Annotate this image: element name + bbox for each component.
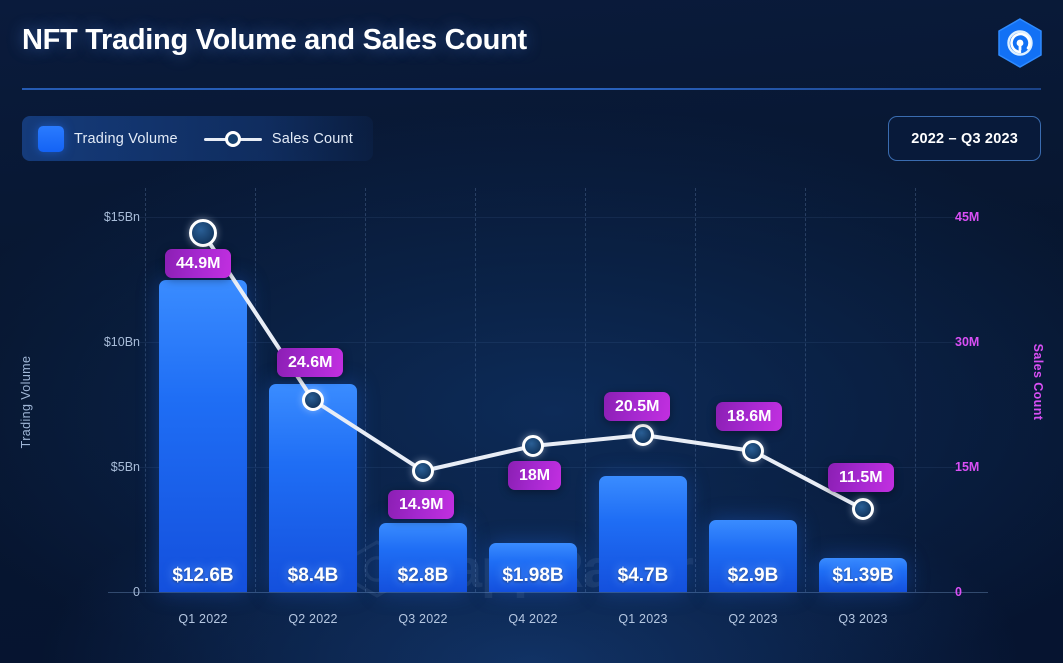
bar-value-label: $12.6B [159,565,247,587]
page-title: NFT Trading Volume and Sales Count [22,24,527,57]
axis-baseline [108,592,988,593]
legend-marker-dot [225,131,241,147]
line-marker-q4-2022[interactable] [522,435,544,457]
chart-legend: Trading Volume Sales Count [22,116,373,161]
bubble-value: 18.6M [727,408,771,426]
bubble-value: 18M [519,467,550,485]
bubble-value: 24.6M [288,354,332,372]
bar-q1-2022[interactable] [159,280,247,592]
x-axis-tick: Q1 2023 [599,612,687,626]
y-axis-right-tick: 30M [955,335,1025,349]
chart-plot-area: DappRadar $15Bn $10Bn $5Bn 0 Trading Vol… [0,180,1063,663]
bubble-value: 14.9M [399,496,443,514]
sales-count-bubble-q1-2022: 44.9M [165,249,231,278]
y-axis-left-tick: 0 [70,585,140,599]
header-divider [22,88,1041,90]
sales-count-bubble-q1-2023: 20.5M [604,392,670,421]
x-axis-tick: Q3 2022 [379,612,467,626]
gridline-v [695,188,696,592]
gridline-v [365,188,366,592]
gridline-v [585,188,586,592]
dappradar-hexagon-logo-icon [996,17,1044,69]
gridline-h [140,217,956,218]
date-range-badge[interactable]: 2022 – Q3 2023 [888,116,1041,161]
y-axis-right-tick: 0 [955,585,1025,599]
bar-value-label: $8.4B [269,565,357,587]
legend-label: Trading Volume [74,131,178,147]
y-axis-left-tick: $15Bn [70,210,140,224]
gridline-v [255,188,256,592]
sales-count-bubble-q3-2022: 14.9M [388,490,454,519]
legend-item-sales-count[interactable]: Sales Count [204,131,353,147]
y-axis-left-tick: $5Bn [70,460,140,474]
line-marker-q1-2023[interactable] [632,424,654,446]
bubble-value: 20.5M [615,398,659,416]
bar-value-label: $1.39B [817,565,909,587]
sales-count-bubble-q2-2023: 18.6M [716,402,782,431]
y-axis-right-tick: 45M [955,210,1025,224]
gridline-v [805,188,806,592]
bar-value-label: $2.9B [709,565,797,587]
line-marker-q2-2022[interactable] [302,389,324,411]
line-dot-icon [204,131,262,147]
sales-count-bubble-q2-2022: 24.6M [277,348,343,377]
legend-item-trading-volume[interactable]: Trading Volume [38,126,178,152]
y-axis-left-tick: $10Bn [70,335,140,349]
sales-count-bubble-q3-2023: 11.5M [828,463,894,492]
chart-card: NFT Trading Volume and Sales Count Tradi… [0,0,1063,663]
gridline-v [475,188,476,592]
sales-count-bubble-q4-2022: 18M [508,461,561,490]
line-marker-q2-2023[interactable] [742,440,764,462]
x-axis-tick: Q1 2022 [159,612,247,626]
card-header: NFT Trading Volume and Sales Count [0,0,1063,92]
bar-value-label: $2.8B [379,565,467,587]
legend-label: Sales Count [272,131,353,147]
date-range-label: 2022 – Q3 2023 [911,131,1018,147]
y-axis-left-title: Trading Volume [19,352,33,452]
x-axis-tick: Q3 2023 [819,612,907,626]
bar-value-label: $4.7B [599,565,687,587]
bubble-value: 44.9M [176,255,220,273]
x-axis-tick: Q4 2022 [489,612,577,626]
y-axis-right: 45M 30M 15M 0 [955,180,1063,663]
x-axis-tick: Q2 2022 [269,612,357,626]
gridline-v [915,188,916,592]
bubble-value: 11.5M [839,469,883,487]
y-axis-right-title: Sales Count [1031,332,1045,432]
line-marker-q1-2022[interactable] [189,219,217,247]
line-marker-q3-2023[interactable] [852,498,874,520]
line-marker-q3-2022[interactable] [412,460,434,482]
bar-swatch-icon [38,126,64,152]
bar-q2-2022[interactable] [269,384,357,592]
y-axis-right-tick: 15M [955,460,1025,474]
gridline-h [140,342,956,343]
gridline-v [145,188,146,592]
x-axis-tick: Q2 2023 [709,612,797,626]
bar-value-label: $1.98B [487,565,579,587]
